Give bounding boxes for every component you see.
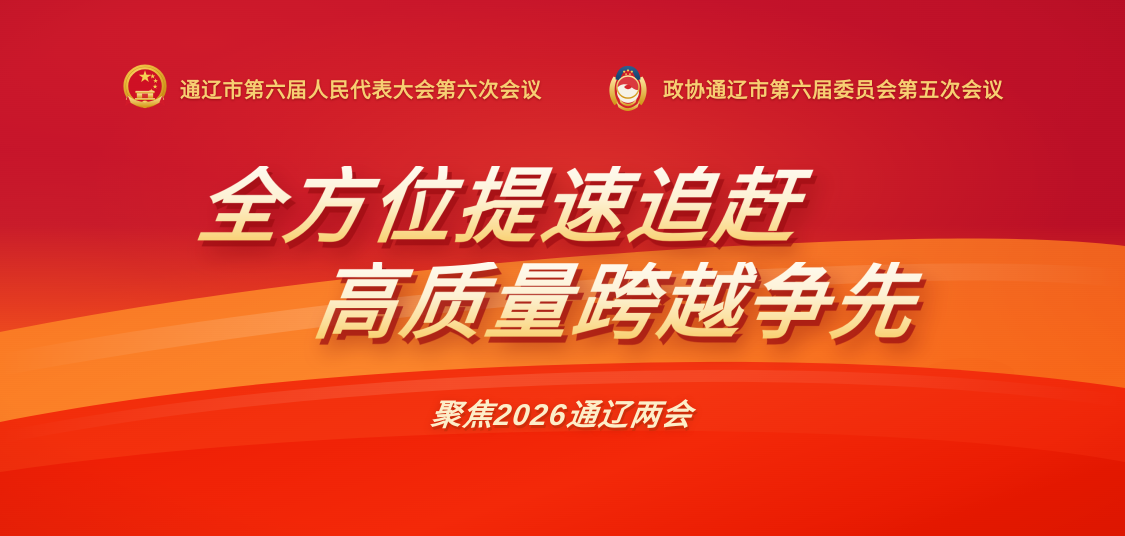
- cppcc-conference-group: 政协通辽市第六届委员会第五次会议: [604, 62, 1004, 114]
- headline-line-2: 高质量跨越争先: [102, 262, 1125, 346]
- subtitle-block: 聚焦2026通辽两会: [0, 390, 1125, 434]
- headline-line-1: 全方位提速追赶: [0, 166, 1125, 250]
- cppcc-conference-label: 政协通辽市第六届委员会第五次会议: [663, 73, 1004, 103]
- cppcc-emblem-icon: [604, 62, 652, 114]
- conference-header-row: 通辽市第六届人民代表大会第六次会议: [0, 62, 1125, 114]
- main-headline: 全方位提速追赶 高质量跨越争先: [0, 166, 1125, 345]
- npc-conference-group: 通辽市第六届人民代表大会第六次会议: [121, 62, 542, 114]
- two-sessions-banner: 通辽市第六届人民代表大会第六次会议: [0, 0, 1125, 536]
- subtitle-text: 聚焦2026通辽两会: [429, 390, 697, 434]
- national-emblem-of-china-icon: [121, 62, 169, 114]
- npc-conference-label: 通辽市第六届人民代表大会第六次会议: [180, 73, 542, 103]
